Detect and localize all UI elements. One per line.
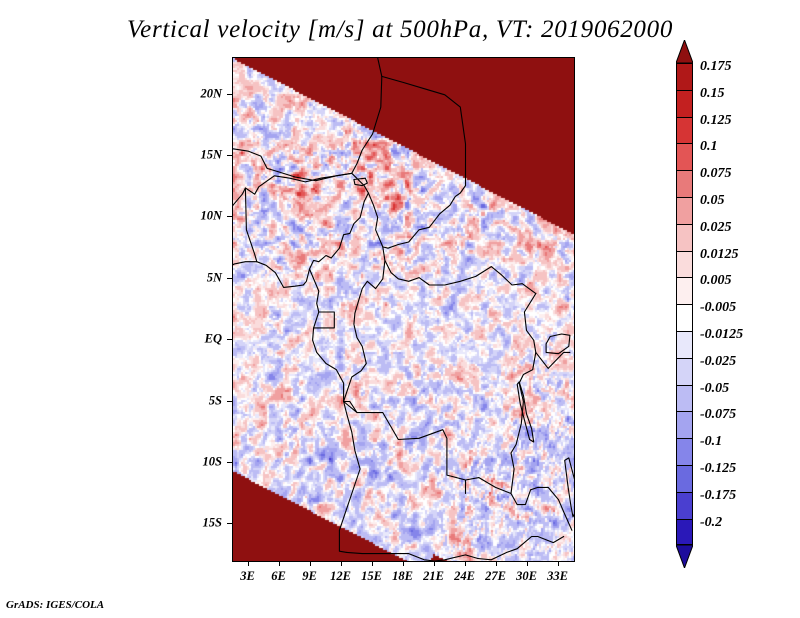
x-axis-tick-label: 21E (423, 569, 444, 584)
colorbar-tick-label: -0.125 (700, 461, 736, 477)
colorbar-tick-label: -0.175 (700, 488, 736, 504)
colorbar-band (676, 90, 693, 117)
y-axis-tick-mark (227, 523, 232, 524)
colorbar-band (676, 358, 693, 385)
colorbar-tick-label: -0.05 (700, 381, 729, 397)
colorbar-tick-label: 0.175 (700, 59, 732, 75)
x-axis-tick-label: 18E (392, 569, 413, 584)
x-axis-tick-mark (496, 561, 497, 566)
footer-credit: GrADS: IGES/COLA (6, 599, 104, 611)
x-axis-tick-mark (527, 561, 528, 566)
colorbar-tick-label: -0.005 (700, 300, 736, 316)
colorbar-tick-label: 0.075 (700, 166, 732, 182)
grads-plot-page: Vertical velocity [m/s] at 500hPa, VT: 2… (0, 0, 800, 618)
y-axis-tick-label: EQ (205, 332, 222, 347)
y-axis-tick-label: 10N (200, 209, 222, 224)
x-axis-tick-label: 15E (361, 569, 382, 584)
x-axis-tick-mark (341, 561, 342, 566)
x-axis-tick-label: 24E (454, 569, 475, 584)
colorbar-band (676, 117, 693, 144)
y-axis-tick-mark (227, 216, 232, 217)
x-axis-tick-label: 9E (302, 569, 317, 584)
x-axis-tick-mark (310, 561, 311, 566)
vertical-velocity-field (233, 58, 574, 561)
colorbar-band (676, 63, 693, 90)
colorbar-tick-label: -0.075 (700, 407, 736, 423)
colorbar-top-arrow-icon (676, 40, 693, 63)
y-axis-tick-label: 10S (203, 454, 222, 469)
colorbar-tick-label: 0.125 (700, 113, 732, 129)
x-axis-tick-mark (465, 561, 466, 566)
colorbar-band (676, 304, 693, 331)
colorbar-tick-label: 0.0125 (700, 247, 739, 263)
colorbar-tick-label: 0.15 (700, 86, 725, 102)
colorbar-band (676, 170, 693, 197)
colorbar-band (676, 438, 693, 465)
colorbar-band (676, 197, 693, 224)
colorbar-tick-label: -0.0125 (700, 327, 743, 343)
colorbar-band (676, 277, 693, 304)
y-axis-tick-mark (227, 278, 232, 279)
colorbar[interactable] (676, 63, 693, 545)
y-axis-tick-mark (227, 155, 232, 156)
y-axis-tick-label: 5S (209, 393, 222, 408)
colorbar-band (676, 411, 693, 438)
colorbar-band (676, 519, 693, 546)
colorbar-band (676, 143, 693, 170)
map-plot-area (232, 57, 575, 562)
colorbar-bottom-arrow-icon (676, 545, 693, 568)
x-axis-tick-label: 33E (547, 569, 568, 584)
x-axis-tick-label: 12E (330, 569, 351, 584)
x-axis-tick-label: 3E (240, 569, 255, 584)
x-axis-tick-mark (403, 561, 404, 566)
colorbar-tick-label: 0.05 (700, 193, 725, 209)
y-axis-tick-mark (227, 401, 232, 402)
x-axis-tick-mark (372, 561, 373, 566)
y-axis-tick-mark (227, 94, 232, 95)
x-axis-tick-label: 6E (271, 569, 286, 584)
colorbar-band (676, 251, 693, 278)
x-axis-tick-label: 27E (485, 569, 506, 584)
colorbar-band (676, 331, 693, 358)
y-axis-tick-mark (227, 462, 232, 463)
colorbar-tick-label: -0.025 (700, 354, 736, 370)
y-axis-tick-label: 20N (200, 86, 222, 101)
colorbar-tick-label: 0.025 (700, 220, 732, 236)
colorbar-tick-label: 0.1 (700, 139, 718, 155)
y-axis-tick-label: 5N (207, 270, 222, 285)
y-axis-tick-label: 15S (203, 516, 222, 531)
x-axis-tick-mark (279, 561, 280, 566)
x-axis-tick-mark (434, 561, 435, 566)
colorbar-tick-label: 0.005 (700, 273, 732, 289)
colorbar-tick-label: -0.1 (700, 434, 722, 450)
x-axis-tick-label: 30E (516, 569, 537, 584)
colorbar-band (676, 492, 693, 519)
x-axis-tick-mark (558, 561, 559, 566)
x-axis-tick-mark (248, 561, 249, 566)
colorbar-band (676, 385, 693, 412)
y-axis-tick-mark (227, 339, 232, 340)
colorbar-tick-label: -0.2 (700, 515, 722, 531)
y-axis-tick-label: 15N (200, 148, 222, 163)
colorbar-band (676, 465, 693, 492)
colorbar-band (676, 224, 693, 251)
